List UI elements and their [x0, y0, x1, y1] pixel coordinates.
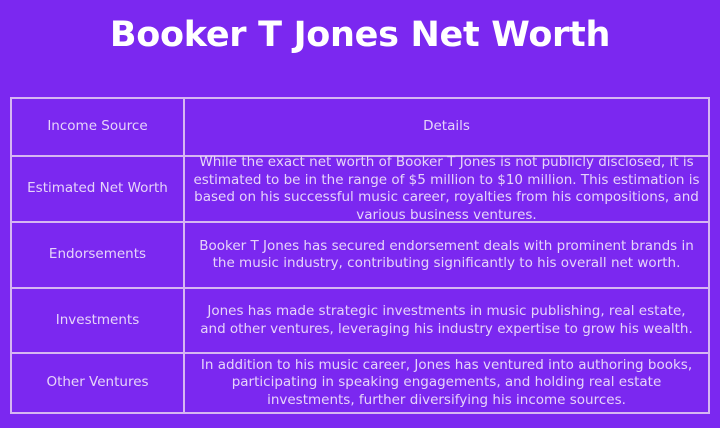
- column-header-income-source: Income Source: [12, 99, 183, 155]
- page-title: Booker T Jones Net Worth: [0, 14, 720, 56]
- row-details-endorsements: Booker T Jones has secured endorsement d…: [183, 223, 708, 287]
- row-details-text: Jones has made strategic investments in …: [193, 303, 700, 338]
- row-details-text: In addition to his music career, Jones h…: [193, 357, 700, 410]
- row-label-other-ventures: Other Ventures: [12, 354, 183, 412]
- row-details-other-ventures: In addition to his music career, Jones h…: [183, 354, 708, 412]
- row-details-investments: Jones has made strategic investments in …: [183, 289, 708, 352]
- net-worth-table: Income Source Details Estimated Net Wort…: [10, 97, 710, 414]
- table-row: Other Ventures In addition to his music …: [12, 352, 708, 412]
- row-label-investments: Investments: [12, 289, 183, 352]
- net-worth-infographic: Booker T Jones Net Worth Income Source D…: [0, 0, 720, 428]
- table-row: Investments Jones has made strategic inv…: [12, 287, 708, 352]
- row-label-estimated-net-worth: Estimated Net Worth: [12, 157, 183, 221]
- table-header-row: Income Source Details: [12, 99, 708, 155]
- row-details-text: While the exact net worth of Booker T Jo…: [193, 154, 700, 224]
- row-details-text: Booker T Jones has secured endorsement d…: [193, 238, 700, 273]
- row-label-endorsements: Endorsements: [12, 223, 183, 287]
- table-row: Estimated Net Worth While the exact net …: [12, 155, 708, 221]
- table-row: Endorsements Booker T Jones has secured …: [12, 221, 708, 287]
- row-details-estimated-net-worth: While the exact net worth of Booker T Jo…: [183, 157, 708, 221]
- column-header-details: Details: [183, 99, 708, 155]
